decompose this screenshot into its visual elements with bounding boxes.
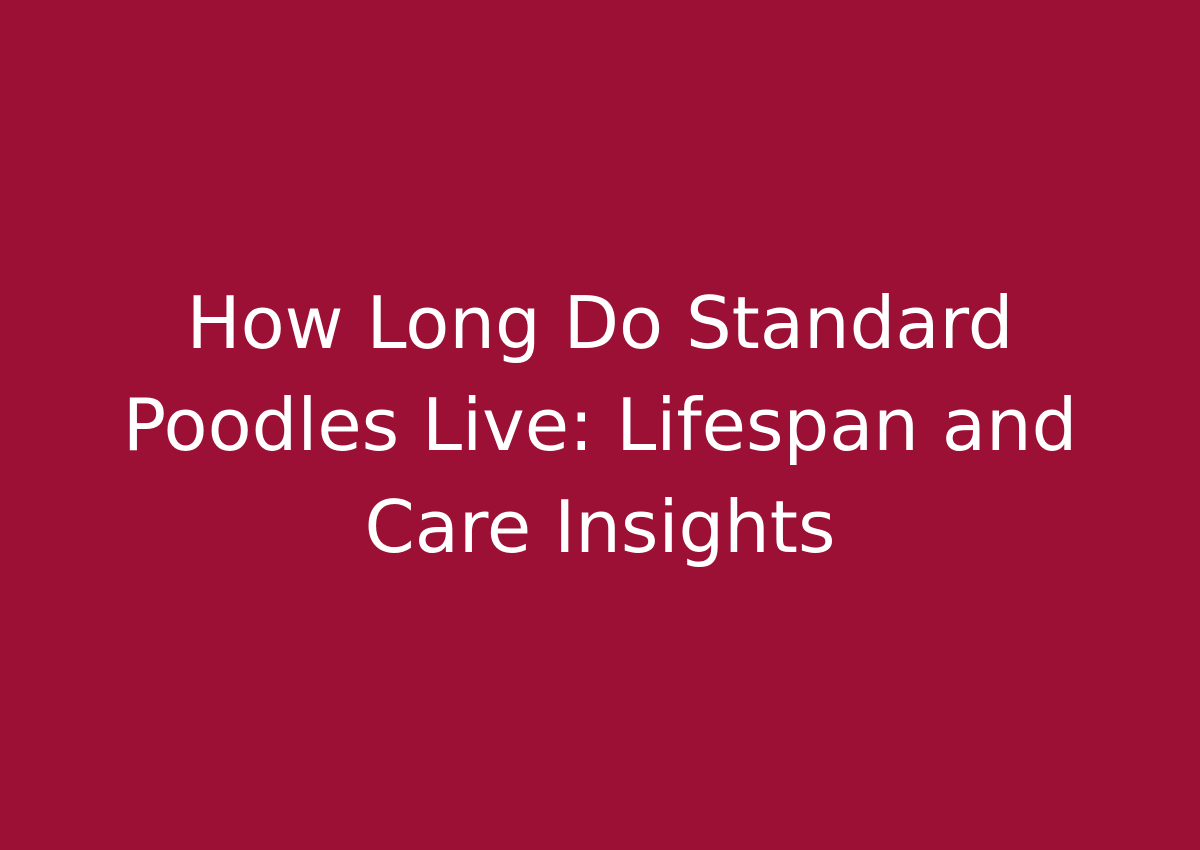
hero-content: How Long Do Standard Poodles Live: Lifes… [77, 272, 1123, 578]
page-title: How Long Do Standard Poodles Live: Lifes… [77, 272, 1123, 578]
hero-card: How Long Do Standard Poodles Live: Lifes… [0, 0, 1200, 850]
